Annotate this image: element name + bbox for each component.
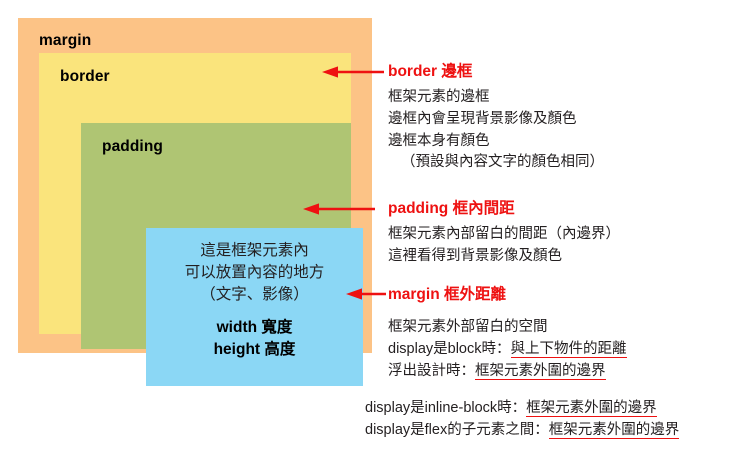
- margin-callout-title: margin 框外距離: [388, 287, 506, 303]
- border-layer-label: border: [60, 69, 110, 85]
- padding-desc-line-2: 這裡看得到背景影像及顏色: [388, 246, 620, 268]
- border-layer: border padding 這是框架元素內 可以放置內容的地方 （文字、影像）…: [39, 53, 351, 334]
- border-desc-line-2: 邊框內會呈現背景影像及顏色: [388, 109, 604, 131]
- margin-rule-3-label: display是inline-block時：: [365, 400, 526, 416]
- content-dimensions: width 寬度 height 高度: [214, 317, 296, 361]
- border-callout-description: 框架元素的邊框 邊框內會呈現背景影像及顏色 邊框本身有顏色 （預設與內容文字的顏…: [388, 87, 604, 174]
- padding-desc-line-1: 框架元素內部留白的間距（內邊界）: [388, 224, 620, 246]
- margin-rule-4-label: display是flex的子元素之間：: [365, 422, 549, 438]
- content-line-3: （文字、影像）: [200, 284, 309, 306]
- content-line-1: 這是框架元素內: [200, 240, 309, 262]
- border-desc-line-3: 邊框本身有顏色: [388, 131, 604, 153]
- content-layer: 這是框架元素內 可以放置內容的地方 （文字、影像） width 寬度 heigh…: [146, 228, 363, 386]
- padding-layer-label: padding: [102, 139, 163, 155]
- content-height-label: height 高度: [214, 339, 296, 361]
- margin-rule-1-label: display是block時：: [388, 341, 511, 357]
- padding-callout-title: padding 框內間距: [388, 201, 515, 217]
- padding-layer: padding 這是框架元素內 可以放置內容的地方 （文字、影像） width …: [81, 123, 351, 349]
- margin-layer-label: margin: [39, 33, 91, 49]
- margin-rule-1-value: 與上下物件的距離: [511, 341, 627, 358]
- box-model-diagram: margin border padding 這是框架元素內 可以放置內容的地方 …: [18, 18, 372, 353]
- margin-rule-4: display是flex的子元素之間：框架元素外圍的邊界: [365, 420, 679, 442]
- margin-rule-4-value: 框架元素外圍的邊界: [549, 422, 680, 439]
- margin-callout-description: 框架元素外部留白的空間 display是block時：與上下物件的距離 浮出設計…: [388, 317, 627, 382]
- border-callout-arrow: [322, 66, 384, 78]
- margin-callout-arrow: [346, 288, 386, 300]
- margin-display-modes: display是inline-block時：框架元素外圍的邊界 display是…: [365, 398, 679, 442]
- margin-rule-3-value: 框架元素外圍的邊界: [526, 400, 657, 417]
- margin-rule-2: 浮出設計時：框架元素外圍的邊界: [388, 361, 627, 383]
- padding-callout-description: 框架元素內部留白的間距（內邊界） 這裡看得到背景影像及顏色: [388, 224, 620, 268]
- padding-callout-arrow: [303, 203, 375, 215]
- border-callout-title: border 邊框: [388, 64, 472, 80]
- margin-layer: margin border padding 這是框架元素內 可以放置內容的地方 …: [18, 18, 372, 353]
- margin-desc-line-1: 框架元素外部留白的空間: [388, 317, 627, 339]
- content-width-label: width 寬度: [214, 317, 296, 339]
- margin-rule-1: display是block時：與上下物件的距離: [388, 339, 627, 361]
- margin-rule-3: display是inline-block時：框架元素外圍的邊界: [365, 398, 679, 420]
- content-line-2: 可以放置內容的地方: [185, 262, 325, 284]
- border-desc-line-1: 框架元素的邊框: [388, 87, 604, 109]
- border-desc-line-4: （預設與內容文字的顏色相同）: [388, 152, 604, 174]
- margin-rule-2-label: 浮出設計時：: [388, 363, 475, 379]
- margin-rule-2-value: 框架元素外圍的邊界: [475, 363, 606, 380]
